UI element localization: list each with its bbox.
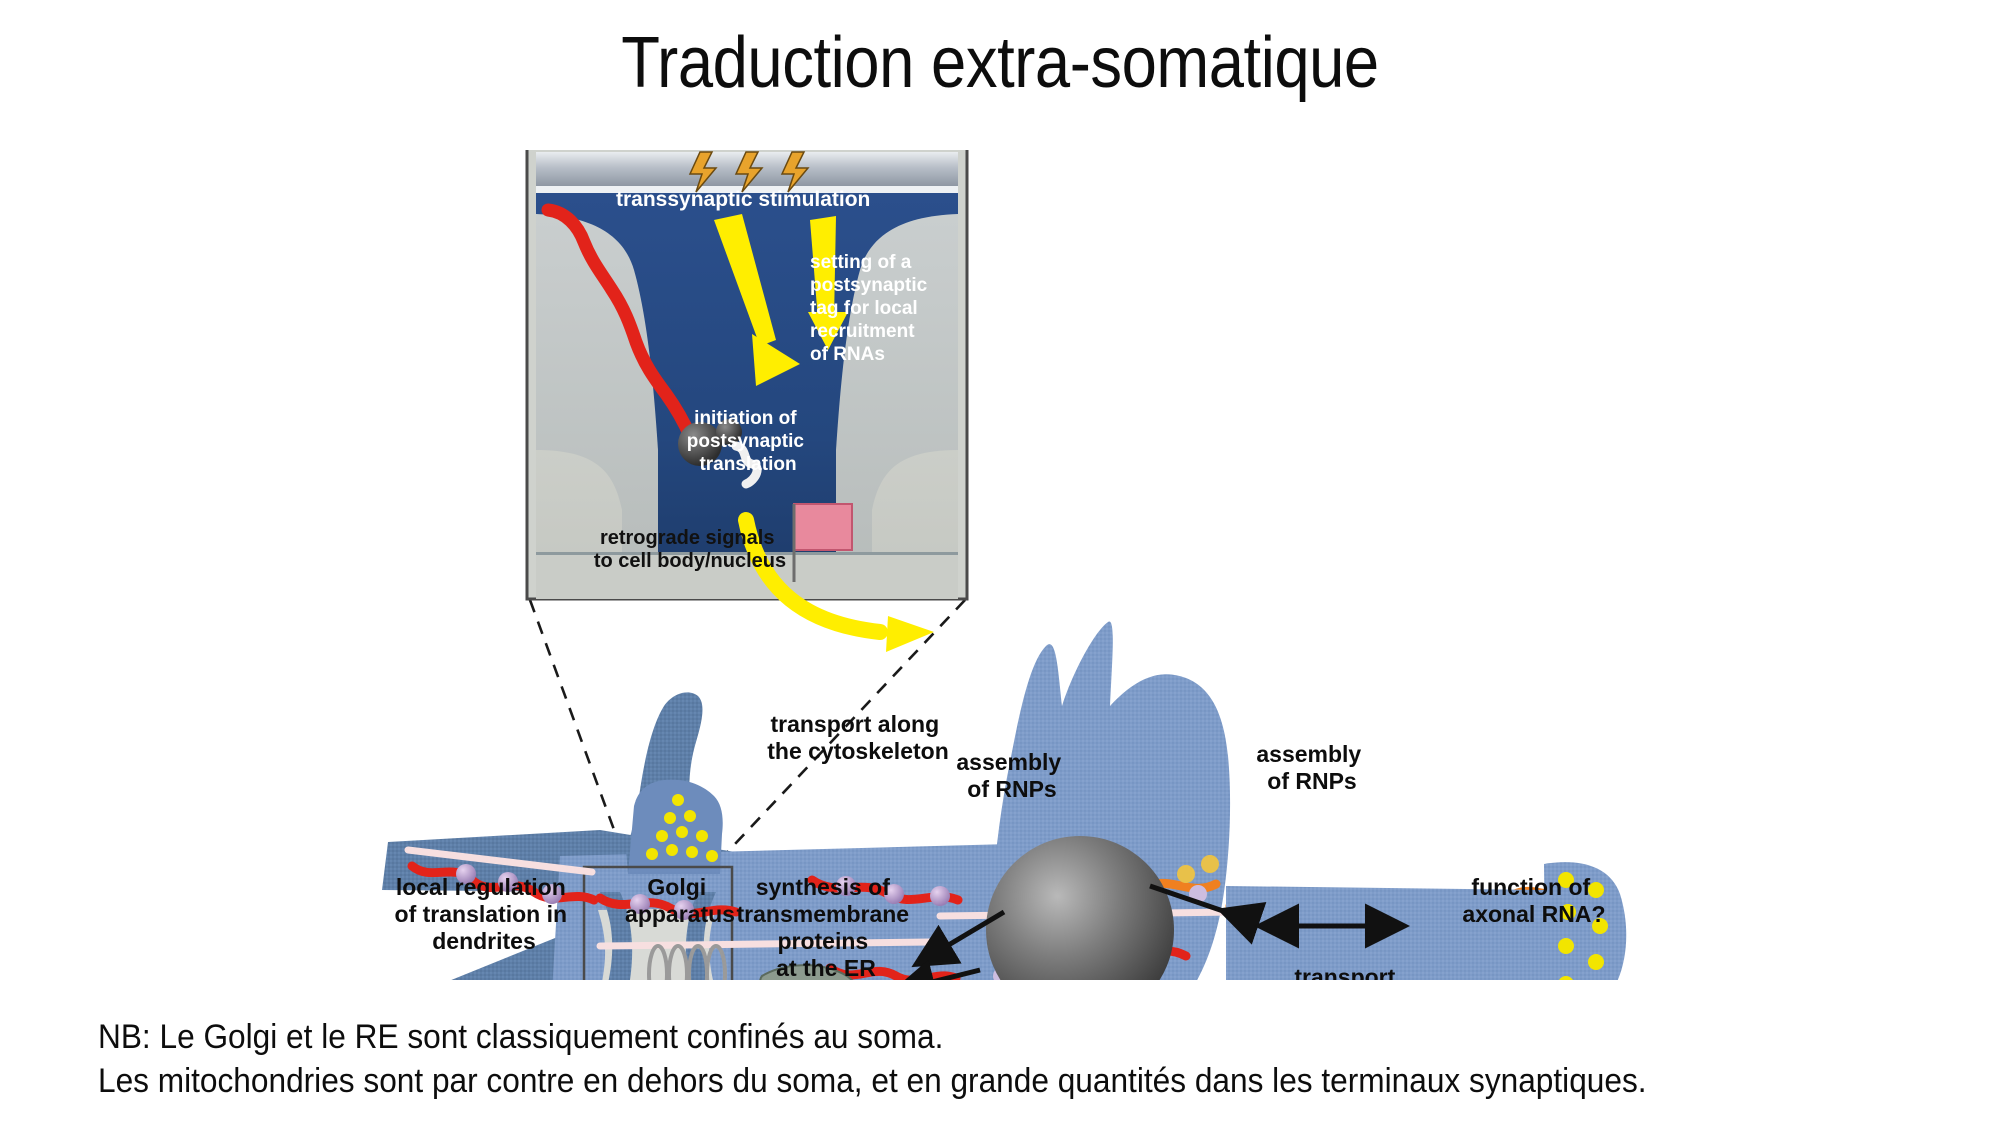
label-assembly-rnps-right: assembly of RNPs [1256,741,1367,794]
label-assembly-rnps-left: assembly of RNPs [956,749,1067,802]
caption-line-2: Les mitochondries sont par contre en deh… [98,1059,1828,1103]
label-initiation-postsynaptic-translation: initiation of postsynaptic translation [687,408,809,475]
label-transport-cytoskeleton: transport along the cytoskeleton [767,711,949,764]
slide-caption: NB: Le Golgi et le RE sont classiquement… [98,1015,1828,1103]
synapse-closeup-inset: transsynaptic stimulation setting of a p… [527,150,967,652]
label-retrograde-signals: retrograde signals to cell body/nucleus [594,527,786,572]
slide-canvas: Traduction extra-somatique [0,0,2000,1125]
page-title: Traduction extra-somatique [120,22,1880,104]
label-transsynaptic-stimulation: transsynaptic stimulation [616,188,870,211]
figure-container: transsynaptic stimulation setting of a p… [0,150,2000,980]
caption-line-1: NB: Le Golgi et le RE sont classiquement… [98,1015,1828,1059]
label-function-axonal-rna: function of axonal RNA? [1462,874,1605,927]
label-transport-rnps: transport of RNPs [1294,964,1401,980]
